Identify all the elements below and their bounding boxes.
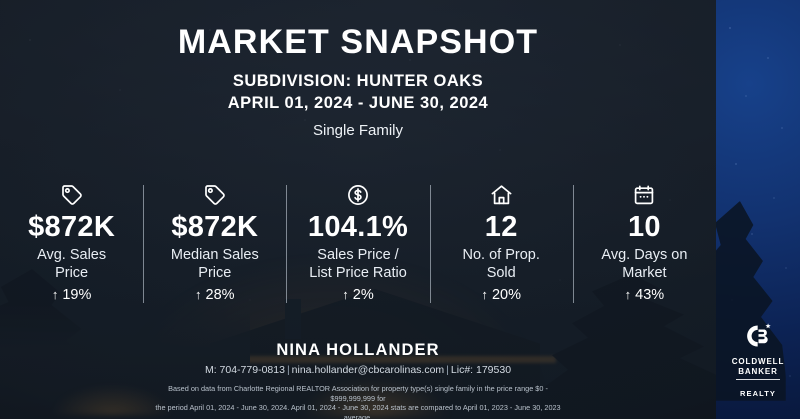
contact-separator: | bbox=[444, 364, 451, 376]
property-type-label: Single Family bbox=[0, 120, 716, 142]
content-column: MARKET SNAPSHOT SUBDIVISION: HUNTER OAKS… bbox=[0, 0, 716, 419]
stat-delta-value: 43% bbox=[635, 287, 664, 303]
stat-value: $872K bbox=[147, 210, 282, 244]
agent-name: NINA HOLLANDER bbox=[0, 340, 716, 360]
brand-line-2: BANKER bbox=[738, 367, 778, 377]
stat-label: Median Sales Price bbox=[147, 246, 282, 282]
agent-license: Lic#: 179530 bbox=[451, 364, 511, 376]
stat-value: 12 bbox=[434, 210, 569, 244]
stat-value: 10 bbox=[577, 210, 712, 244]
trend-up-icon: ↑ bbox=[195, 287, 202, 302]
stat-properties-sold: 12 No. of Prop. Sold ↑ 20% bbox=[430, 182, 573, 304]
brand-line-1: COLDWELL bbox=[732, 357, 785, 367]
dollar-circle-icon bbox=[290, 182, 425, 208]
page-title: MARKET SNAPSHOT bbox=[0, 22, 716, 62]
stat-delta: ↑ 28% bbox=[147, 286, 282, 304]
stat-delta: ↑ 43% bbox=[577, 286, 712, 304]
brand-line-3: REALTY bbox=[740, 389, 776, 398]
cb-star-logo-icon bbox=[742, 320, 774, 352]
brand-panel: COLDWELL BANKER REALTY bbox=[716, 0, 800, 419]
home-icon bbox=[434, 182, 569, 208]
footer-block: NINA HOLLANDER M: 704-779-0813|nina.holl… bbox=[0, 340, 716, 419]
stat-median-sales-price: $872K Median Sales Price ↑ 28% bbox=[143, 182, 286, 304]
stat-delta-value: 28% bbox=[206, 287, 235, 303]
stat-delta: ↑ 19% bbox=[4, 286, 139, 304]
stat-delta-value: 20% bbox=[492, 287, 521, 303]
stat-value: $872K bbox=[4, 210, 139, 244]
disclaimer-text: Based on data from Charlotte Regional RE… bbox=[0, 384, 716, 419]
brand-realty-wrap: REALTY bbox=[736, 379, 780, 401]
agent-phone[interactable]: M: 704-779-0813 bbox=[205, 364, 285, 376]
trend-up-icon: ↑ bbox=[625, 287, 632, 302]
stat-value: 104.1% bbox=[290, 210, 425, 244]
trend-up-icon: ↑ bbox=[342, 287, 349, 302]
stat-delta: ↑ 2% bbox=[290, 286, 425, 304]
disclaimer-line-1: Based on data from Charlotte Regional RE… bbox=[150, 384, 566, 403]
stat-sales-to-list-ratio: 104.1% Sales Price / List Price Ratio ↑ … bbox=[286, 182, 429, 304]
contact-separator: | bbox=[285, 364, 292, 376]
stat-delta-value: 19% bbox=[62, 287, 91, 303]
stat-delta-value: 2% bbox=[353, 287, 374, 303]
market-snapshot-card: MARKET SNAPSHOT SUBDIVISION: HUNTER OAKS… bbox=[0, 0, 800, 419]
tag-icon bbox=[147, 182, 282, 208]
stat-label: Avg. Days on Market bbox=[577, 246, 712, 282]
stat-label: No. of Prop. Sold bbox=[434, 246, 569, 282]
disclaimer-line-2: the period April 01, 2024 - June 30, 202… bbox=[150, 403, 566, 419]
stat-delta: ↑ 20% bbox=[434, 286, 569, 304]
stat-label: Sales Price / List Price Ratio bbox=[290, 246, 425, 282]
stat-avg-sales-price: $872K Avg. Sales Price ↑ 19% bbox=[0, 182, 143, 304]
tag-icon bbox=[4, 182, 139, 208]
trend-up-icon: ↑ bbox=[52, 287, 59, 302]
coldwell-banker-logo: COLDWELL BANKER REALTY bbox=[716, 320, 800, 401]
stats-row: $872K Avg. Sales Price ↑ 19% $872K Media… bbox=[0, 182, 716, 304]
trend-up-icon: ↑ bbox=[481, 287, 488, 302]
agent-contact-line: M: 704-779-0813|nina.hollander@cbcarolin… bbox=[0, 363, 716, 377]
agent-email[interactable]: nina.hollander@cbcarolinas.com bbox=[292, 364, 445, 376]
header-block: MARKET SNAPSHOT SUBDIVISION: HUNTER OAKS… bbox=[0, 22, 716, 142]
stat-label: Avg. Sales Price bbox=[4, 246, 139, 282]
date-range-label: APRIL 01, 2024 - JUNE 30, 2024 bbox=[0, 92, 716, 114]
subdivision-label: SUBDIVISION: HUNTER OAKS bbox=[0, 70, 716, 92]
calendar-icon bbox=[577, 182, 712, 208]
stat-avg-days-on-market: 10 Avg. Days on Market ↑ 43% bbox=[573, 182, 716, 304]
